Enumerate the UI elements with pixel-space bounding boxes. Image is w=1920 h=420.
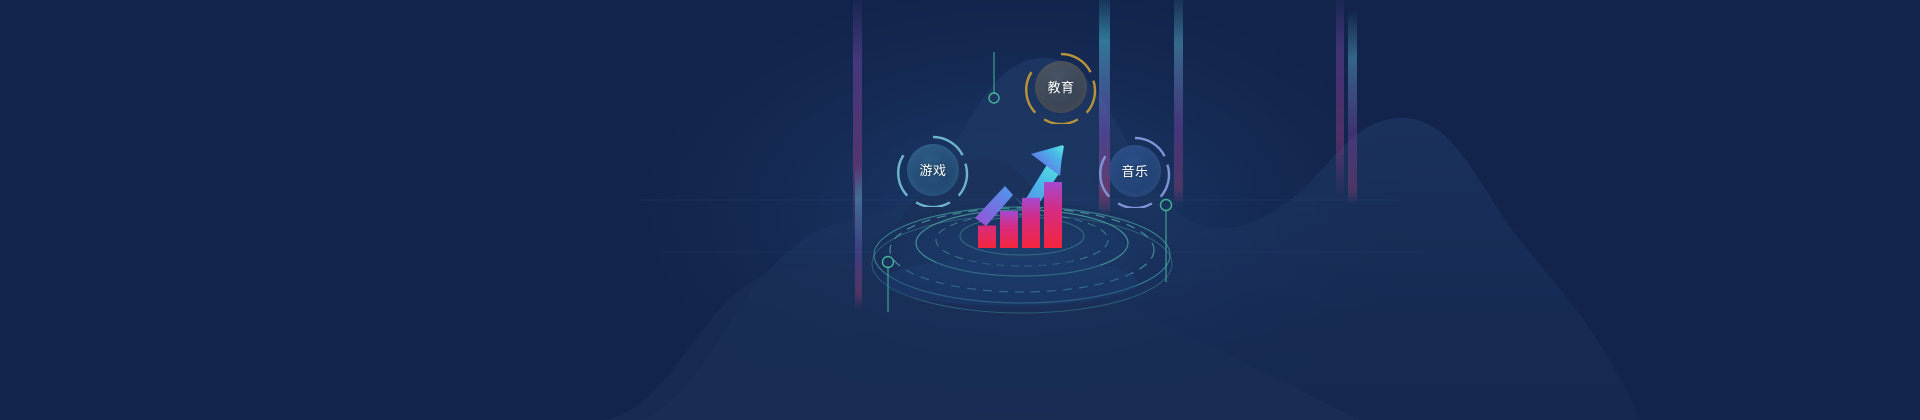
badge-games-core: 游戏 <box>907 144 959 196</box>
banner-artwork <box>0 0 1920 420</box>
light-streak-5 <box>1348 10 1357 205</box>
bar-2 <box>1000 211 1018 248</box>
badge-games[interactable]: 游戏 <box>896 133 970 207</box>
badge-games-label: 游戏 <box>919 164 946 177</box>
badge-education-core: 教育 <box>1035 61 1087 113</box>
badge-music-core: 音乐 <box>1109 145 1161 197</box>
bar-1 <box>978 226 996 248</box>
badge-education-label: 教育 <box>1047 81 1074 94</box>
badge-music[interactable]: 音乐 <box>1098 134 1172 208</box>
bar-4 <box>1044 182 1062 248</box>
bar-3 <box>1022 198 1040 248</box>
badge-education[interactable]: 教育 <box>1024 50 1098 124</box>
light-streak-4 <box>1336 0 1344 200</box>
badge-music-label: 音乐 <box>1121 165 1148 178</box>
banner-root: 游戏 教育 音乐 <box>0 0 1920 420</box>
light-streak-1b <box>855 165 862 310</box>
stage-shadow <box>882 258 1138 306</box>
light-streak-3 <box>1174 0 1183 205</box>
